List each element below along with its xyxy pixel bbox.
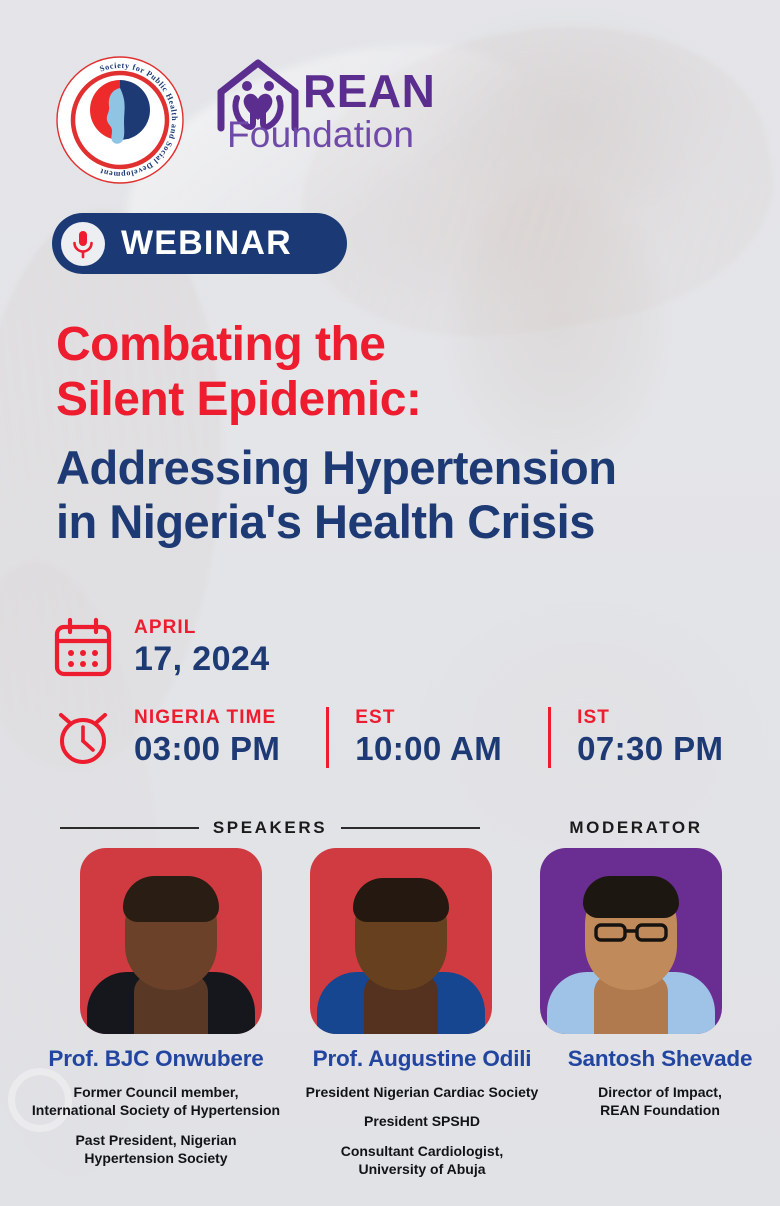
title-line-2: Silent Epidemic: (56, 373, 756, 428)
time-row: NIGERIA TIME 03:00 PM EST 10:00 AM IST 0… (52, 706, 747, 768)
rean-subtitle: Foundation (227, 114, 414, 156)
person-odili: Prof. Augustine Odili President Nigerian… (272, 1046, 572, 1179)
person-name: Prof. Augustine Odili (272, 1046, 572, 1072)
timezone-label: IST (577, 707, 723, 729)
person-shevade: Santosh Shevade Director of Impact, REAN… (535, 1046, 780, 1120)
section-headers: SPEAKERS MODERATOR (0, 818, 780, 846)
divider-right (341, 827, 480, 829)
rean-wordmark: REAN (303, 64, 435, 118)
date-month: APRIL (134, 617, 270, 639)
speaker-photo-odili (310, 848, 492, 1034)
title-line-1: Combating the (56, 318, 756, 373)
timezone-label: EST (355, 707, 502, 729)
person-name: Santosh Shevade (535, 1046, 780, 1072)
person-role: President SPSHD (272, 1112, 572, 1130)
person-role: Past President, Nigerian Hypertension So… (6, 1131, 306, 1168)
title-line-4: in Nigeria's Health Crisis (56, 495, 756, 549)
page-title: Combating the Silent Epidemic: Addressin… (56, 318, 756, 549)
rean-foundation-logo: REAN Foundation (215, 58, 475, 174)
person-role: Director of Impact, REAN Foundation (535, 1083, 780, 1120)
microphone-badge-circle (61, 222, 105, 266)
person-role: Consultant Cardiologist, University of A… (272, 1142, 572, 1179)
timezone-est: EST 10:00 AM (326, 707, 526, 768)
webinar-label: WEBINAR (121, 224, 292, 263)
timezone-value: 07:30 PM (577, 730, 723, 768)
webinar-poster: Society for Public Health and Social Dev… (0, 0, 780, 1206)
timezone-ist: IST 07:30 PM (548, 707, 747, 768)
divider-left (60, 827, 199, 829)
eyeglasses-icon (593, 922, 669, 942)
timezone-value: 03:00 PM (134, 730, 280, 768)
logo-row: Society for Public Health and Social Dev… (0, 44, 780, 184)
timezone-nigeria: NIGERIA TIME 03:00 PM (134, 707, 304, 768)
microphone-icon (70, 229, 96, 259)
speakers-label: SPEAKERS (213, 818, 327, 838)
moderator-photo-shevade (540, 848, 722, 1034)
person-role: Former Council member, International Soc… (6, 1083, 306, 1120)
timezone-label: NIGERIA TIME (134, 707, 280, 729)
title-line-3: Addressing Hypertension (56, 441, 756, 495)
date-row: APRIL 17, 2024 (52, 617, 270, 679)
speaker-photo-onwubere (80, 848, 262, 1034)
alarm-clock-icon (52, 706, 114, 768)
webinar-badge: WEBINAR (52, 213, 347, 274)
person-role: President Nigerian Cardiac Society (272, 1083, 572, 1101)
person-name: Prof. BJC Onwubere (6, 1046, 306, 1072)
timezone-value: 10:00 AM (355, 730, 502, 768)
calendar-icon (52, 617, 114, 679)
moderator-heading: MODERATOR (536, 818, 736, 838)
person-onwubere: Prof. BJC Onwubere Former Council member… (6, 1046, 306, 1168)
date-value: 17, 2024 (134, 640, 270, 679)
speakers-heading: SPEAKERS (60, 818, 480, 838)
spshd-logo: Society for Public Health and Social Dev… (54, 54, 186, 186)
moderator-label: MODERATOR (536, 818, 736, 838)
